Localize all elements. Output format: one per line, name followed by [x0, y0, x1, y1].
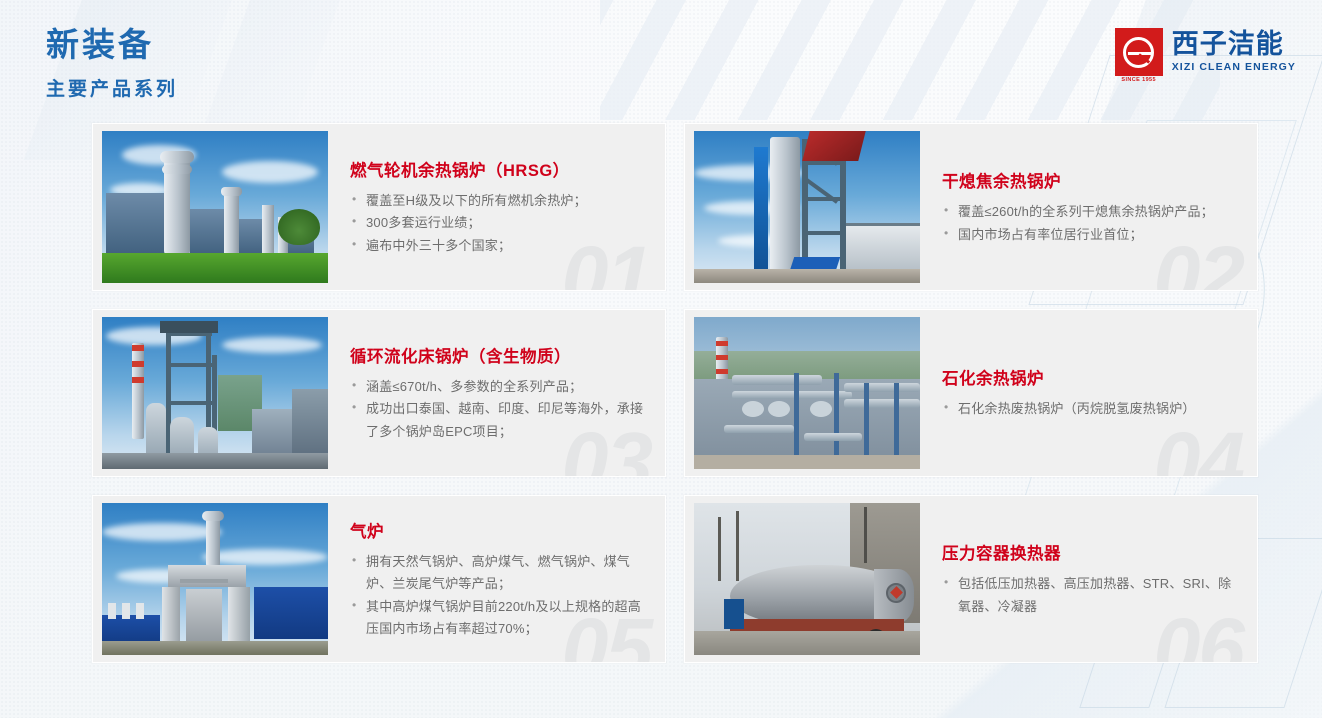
product-card-01[interactable]: 01 燃气轮机余热锅炉（HRSG）: [92, 123, 666, 291]
product-photo-01: [102, 131, 328, 283]
brand-logo: SINCE 1955 西子洁能 XIZI CLEAN ENERGY: [1115, 28, 1296, 76]
product-title-04: 石化余热锅炉: [942, 365, 1241, 389]
product-bullets-05: 拥有天然气锅炉、高炉煤气、燃气锅炉、煤气炉、兰炭尾气炉等产品； 其中高炉煤气锅炉…: [350, 551, 649, 640]
bullet-item: 覆盖≤260t/h的全系列干熄焦余热锅炉产品；: [942, 201, 1241, 223]
product-title-03: 循环流化床锅炉（含生物质）: [350, 343, 649, 367]
page-subtitle: 主要产品系列: [46, 74, 178, 101]
slide-root: 新装备 主要产品系列 SINCE 1955 西子洁能 XIZI CLEAN EN…: [0, 0, 1322, 718]
logo-name-cn: 西子洁能: [1172, 31, 1296, 58]
bullet-item: 国内市场占有率位居行业首位；: [942, 224, 1241, 246]
product-bullets-03: 涵盖≤670t/h、多参数的全系列产品； 成功出口泰国、越南、印度、印尼等海外，…: [350, 376, 649, 443]
product-bullets-06: 包括低压加热器、高压加热器、STR、SRI、除氧器、冷凝器: [942, 573, 1241, 618]
product-text-03: 循环流化床锅炉（含生物质） 涵盖≤670t/h、多参数的全系列产品； 成功出口泰…: [328, 343, 665, 443]
product-text-02: 干熄焦余热锅炉 覆盖≤260t/h的全系列干熄焦余热锅炉产品； 国内市场占有率位…: [920, 168, 1257, 246]
bullet-item: 遍布中外三十多个国家；: [350, 235, 649, 257]
product-title-02: 干熄焦余热锅炉: [942, 168, 1241, 192]
bullet-item: 覆盖至H级及以下的所有燃机余热炉；: [350, 190, 649, 212]
product-text-01: 燃气轮机余热锅炉（HRSG） 覆盖至H级及以下的所有燃机余热炉； 300多套运行…: [328, 157, 665, 257]
product-card-04[interactable]: 04: [684, 309, 1258, 477]
product-text-05: 气炉 拥有天然气锅炉、高炉煤气、燃气锅炉、煤气炉、兰炭尾气炉等产品； 其中高炉煤…: [328, 518, 665, 640]
product-title-06: 压力容器换热器: [942, 540, 1241, 564]
product-card-grid: 01 燃气轮机余热锅炉（HRSG）: [92, 123, 1258, 663]
product-bullets-02: 覆盖≤260t/h的全系列干熄焦余热锅炉产品； 国内市场占有率位居行业首位；: [942, 201, 1241, 246]
bullet-item: 涵盖≤670t/h、多参数的全系列产品；: [350, 376, 649, 398]
product-card-05[interactable]: 05 气炉: [92, 495, 666, 663]
product-bullets-01: 覆盖至H级及以下的所有燃机余热炉； 300多套运行业绩； 遍布中外三十多个国家；: [350, 190, 649, 257]
bullet-item: 300多套运行业绩；: [350, 212, 649, 234]
bullet-item: 拥有天然气锅炉、高炉煤气、燃气锅炉、煤气炉、兰炭尾气炉等产品；: [350, 551, 649, 596]
product-card-06[interactable]: 06 压力容器换热器: [684, 495, 1258, 663]
bullet-item: 包括低压加热器、高压加热器、STR、SRI、除氧器、冷凝器: [942, 573, 1241, 618]
e-ring-shape: [1123, 37, 1154, 68]
product-photo-06: [694, 503, 920, 655]
bullet-item: 成功出口泰国、越南、印度、印尼等海外，承接了多个锅炉岛EPC项目；: [350, 398, 649, 443]
card-watermark-number: 04: [1154, 420, 1243, 477]
logo-name-en: XIZI CLEAN ENERGY: [1172, 62, 1296, 73]
bullet-item: 其中高炉煤气锅炉目前220t/h及以上规格的超高压国内市场占有率超过70%；: [350, 596, 649, 641]
page-title: 新装备: [46, 26, 178, 64]
product-card-02[interactable]: 02 干熄焦余热锅: [684, 123, 1258, 291]
product-card-03[interactable]: 03: [92, 309, 666, 477]
product-photo-05: [102, 503, 328, 655]
product-photo-02: [694, 131, 920, 283]
product-bullets-04: 石化余热废热锅炉（丙烷脱氢废热锅炉）: [942, 398, 1241, 420]
product-text-06: 压力容器换热器 包括低压加热器、高压加热器、STR、SRI、除氧器、冷凝器: [920, 540, 1257, 618]
product-photo-04: [694, 317, 920, 469]
bullet-item: 石化余热废热锅炉（丙烷脱氢废热锅炉）: [942, 398, 1241, 420]
xizi-e-icon: SINCE 1955: [1115, 28, 1163, 76]
product-title-01: 燃气轮机余热锅炉（HRSG）: [350, 157, 649, 181]
product-photo-03: [102, 317, 328, 469]
page-header: 新装备 主要产品系列: [46, 26, 178, 101]
logo-wordmark: 西子洁能 XIZI CLEAN ENERGY: [1172, 31, 1296, 73]
logo-since-text: SINCE 1955: [1115, 77, 1163, 83]
product-title-05: 气炉: [350, 518, 649, 542]
product-text-04: 石化余热锅炉 石化余热废热锅炉（丙烷脱氢废热锅炉）: [920, 365, 1257, 420]
